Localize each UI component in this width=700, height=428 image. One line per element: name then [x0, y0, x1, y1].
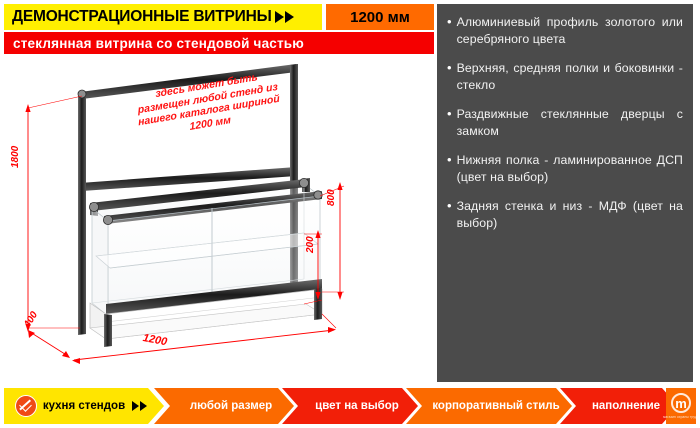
chevron-step-1-label: любой размер [190, 400, 272, 412]
chevron-step-4-label: наполнение [592, 400, 660, 412]
feature-item-label: Нижняя полка - ламинированное ДСП (цвет … [457, 152, 683, 185]
size-badge: 1200 мм [326, 4, 434, 30]
page-subtitle: стеклянная витрина со стендовой частью [13, 36, 304, 51]
bullet-icon: • [447, 198, 452, 214]
chevron-brand-label: кухня стендов [43, 400, 125, 412]
features-panel: • Алюминиевый профиль золотого или сереб… [437, 4, 693, 382]
kitchen-stands-icon [15, 395, 37, 417]
dimension-case-height: 800 [326, 189, 337, 206]
page-title-bar: ДЕМОНСТРАЦИОННЫЕ ВИТРИНЫ [4, 4, 322, 30]
feature-item-label: Раздвижные стеклянные дверцы с замком [457, 106, 683, 139]
bullet-icon: • [447, 60, 452, 76]
chevron-step-4[interactable]: наполнение [560, 388, 678, 424]
logo-letter-icon: m [671, 393, 691, 413]
feature-item: • Раздвижные стеклянные дверцы с замком [447, 106, 683, 139]
chevron-step-2[interactable]: цвет на выбор [282, 388, 418, 424]
page-title: ДЕМОНСТРАЦИОННЫЕ ВИТРИНЫ [12, 8, 272, 26]
logo-caption: магазин охраны труда [663, 415, 699, 419]
feature-item: • Нижняя полка - ламинированное ДСП (цве… [447, 152, 683, 185]
feature-item: • Верхняя, средняя полки и боковинки - с… [447, 60, 683, 93]
left-column: ДЕМОНСТРАЦИОННЫЕ ВИТРИНЫ 1200 мм стеклян… [4, 4, 434, 379]
size-badge-label: 1200 мм [350, 9, 410, 26]
infographic-page: ДЕМОНСТРАЦИОННЫЕ ВИТРИНЫ 1200 мм стеклян… [0, 0, 700, 428]
bullet-icon: • [447, 106, 452, 122]
company-logo[interactable]: m магазин охраны труда [666, 388, 696, 424]
showcase-technical-drawing: здесь может быть размещен любой стенд из… [4, 56, 434, 379]
dimension-height-total: 1800 [10, 146, 21, 168]
chevron-step-3[interactable]: корпоративный стиль [406, 388, 572, 424]
feature-item-label: Задняя стенка и низ - МДФ (цвет на выбор… [457, 198, 683, 231]
feature-item: • Алюминиевый профиль золотого или сереб… [447, 14, 683, 47]
process-chevron-bar: кухня стендов любой размер цвет на выбор… [4, 388, 696, 424]
chevron-arrows-icon [131, 401, 147, 411]
chevron-step-1[interactable]: любой размер [154, 388, 294, 424]
chevron-step-3-label: корпоративный стиль [432, 400, 559, 412]
page-subtitle-bar: стеклянная витрина со стендовой частью [4, 32, 434, 54]
bullet-icon: • [447, 152, 452, 168]
dimension-base-height: 200 [305, 236, 316, 253]
chevron-step-2-label: цвет на выбор [315, 400, 399, 412]
chevron-brand[interactable]: кухня стендов [4, 388, 164, 424]
feature-item: • Задняя стенка и низ - МДФ (цвет на выб… [447, 198, 683, 231]
feature-item-label: Алюминиевый профиль золотого или серебря… [457, 14, 683, 47]
feature-item-label: Верхняя, средняя полки и боковинки - сте… [457, 60, 683, 93]
showcase-svg [4, 56, 434, 379]
bullet-icon: • [447, 14, 452, 30]
title-arrows-icon [274, 11, 294, 23]
